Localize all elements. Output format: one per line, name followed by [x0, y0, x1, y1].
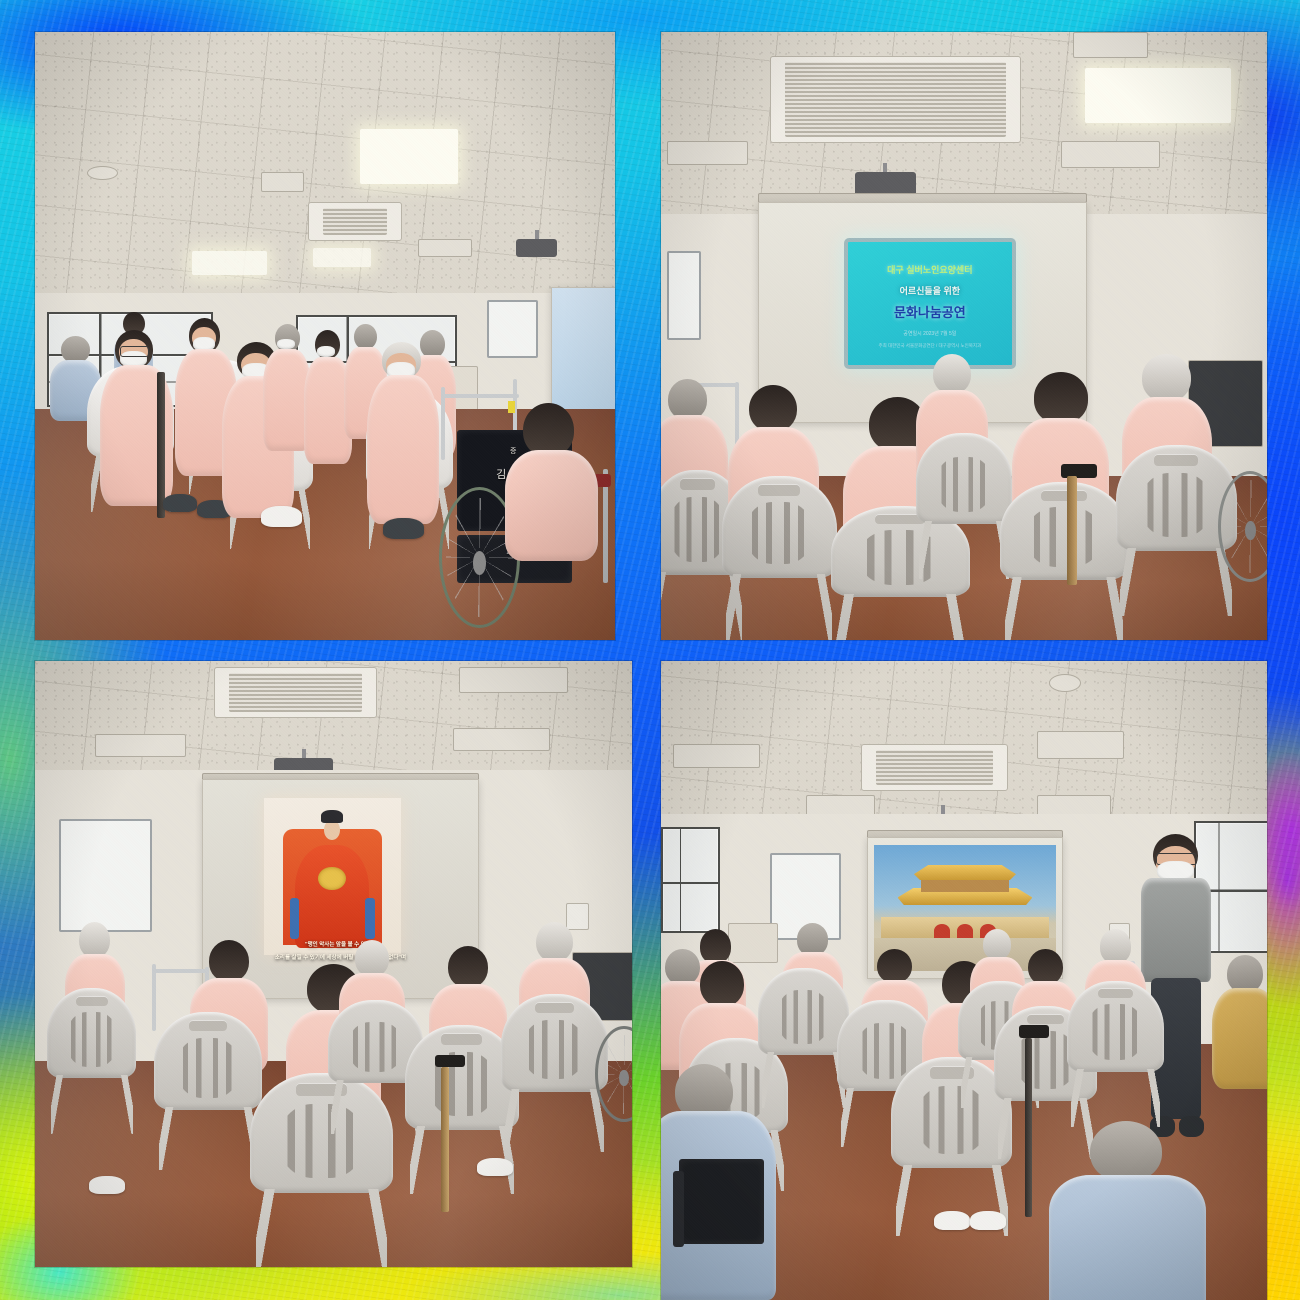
slide-line-4: 공연일시 2023년 7월 5일 — [848, 330, 1012, 337]
plastic-chair — [154, 1012, 261, 1170]
wheelchair — [590, 994, 632, 1139]
shoe — [477, 1158, 513, 1176]
resident-figure — [366, 342, 441, 524]
walking-cane-icon — [157, 372, 165, 518]
walking-cane-icon — [435, 1055, 465, 1067]
photo-collage: 증 김수환 2층 — [0, 0, 1300, 1300]
scene-bottom-right — [661, 661, 1267, 1300]
resident-figure-foreground — [1049, 1121, 1207, 1300]
shoe — [934, 1211, 970, 1230]
resident-figure — [1212, 955, 1267, 1089]
king-sejong-portrait — [264, 798, 401, 955]
scene-top-right: 대구 실버노인요양센터 어르신들을 위한 문화나눔공연 공연일시 2023년 7… — [661, 32, 1267, 640]
slide-line-1: 대구 실버노인요양센터 — [848, 263, 1012, 276]
ceiling-vent-icon — [667, 141, 748, 164]
title-slide: 대구 실버노인요양센터 어르신들을 위한 문화나눔공연 공연일시 2023년 7… — [844, 238, 1016, 369]
wall-panel — [487, 300, 537, 359]
light-panel-icon — [313, 248, 371, 267]
wall-whiteboard — [59, 819, 153, 932]
ceiling-vent-icon — [453, 728, 551, 751]
walking-cane-shaft — [1025, 1038, 1033, 1217]
photo-top-left: 증 김수환 2층 — [35, 32, 615, 640]
ceiling-vent-icon — [95, 734, 187, 757]
photo-top-right: 대구 실버노인요양센터 어르신들을 위한 문화나눔공연 공연일시 2023년 7… — [661, 32, 1267, 640]
ceiling-vent-icon — [806, 795, 875, 816]
ceiling-vent-icon — [673, 744, 760, 768]
plastic-chair — [1000, 482, 1127, 640]
resident-figure — [505, 403, 598, 561]
ceiling-vent-icon — [261, 172, 304, 192]
ceiling-vent-icon — [1037, 795, 1112, 816]
ceiling-vent-icon — [418, 239, 472, 257]
plastic-chair — [47, 988, 137, 1133]
ceiling-vent-icon — [1037, 731, 1124, 759]
projector-icon — [516, 239, 557, 257]
wall-panel — [667, 251, 701, 340]
photo-bottom-right — [661, 661, 1267, 1300]
shoe — [163, 494, 198, 512]
plastic-chair — [916, 433, 1013, 579]
ceiling-speaker-icon — [1049, 674, 1081, 692]
ceiling-vent-icon — [1073, 32, 1148, 58]
ceiling-aircon-icon — [214, 667, 377, 717]
wheelchair — [673, 1159, 831, 1300]
photo-bottom-left: "맹인 악사는 앞을 볼 수 없어도 소리를 살필 수 있기에 세상에 버릴 사… — [35, 661, 632, 1267]
plastic-chair — [722, 476, 837, 640]
ceiling-aircon-icon — [861, 744, 1008, 791]
staff-shirt — [1141, 878, 1211, 982]
slide-line-2: 어르신들을 위한 — [848, 284, 1012, 297]
ceiling-aircon-icon — [770, 56, 1020, 143]
ceiling-vent-icon — [1061, 141, 1160, 167]
ceiling-aircon-icon — [308, 202, 403, 240]
walking-cane-shaft — [441, 1067, 449, 1212]
slide-line-3: 문화나눔공연 — [848, 302, 1012, 321]
wheelchair — [1212, 433, 1267, 603]
plastic-chair — [1067, 981, 1164, 1128]
walking-cane-icon — [1019, 1025, 1049, 1038]
walking-cane-shaft — [1067, 476, 1077, 585]
shoe — [89, 1176, 125, 1194]
ceiling-vent-icon — [459, 667, 568, 693]
scene-top-left: 증 김수환 2층 — [35, 32, 615, 640]
shoe — [261, 506, 302, 527]
window-left — [661, 827, 720, 933]
ceiling-speaker-icon — [87, 166, 118, 180]
shoe — [970, 1211, 1006, 1230]
light-panel-icon — [1085, 68, 1230, 123]
light-panel-icon — [360, 129, 459, 184]
light-panel-icon — [192, 251, 267, 275]
slide-line-5: 주최 대한민국 서울문화공연단 / 대구광역시 노인복지과 — [848, 343, 1012, 349]
shoe — [383, 518, 424, 539]
scene-bottom-left: "맹인 악사는 앞을 볼 수 없어도 소리를 살필 수 있기에 세상에 버릴 사… — [35, 661, 632, 1267]
